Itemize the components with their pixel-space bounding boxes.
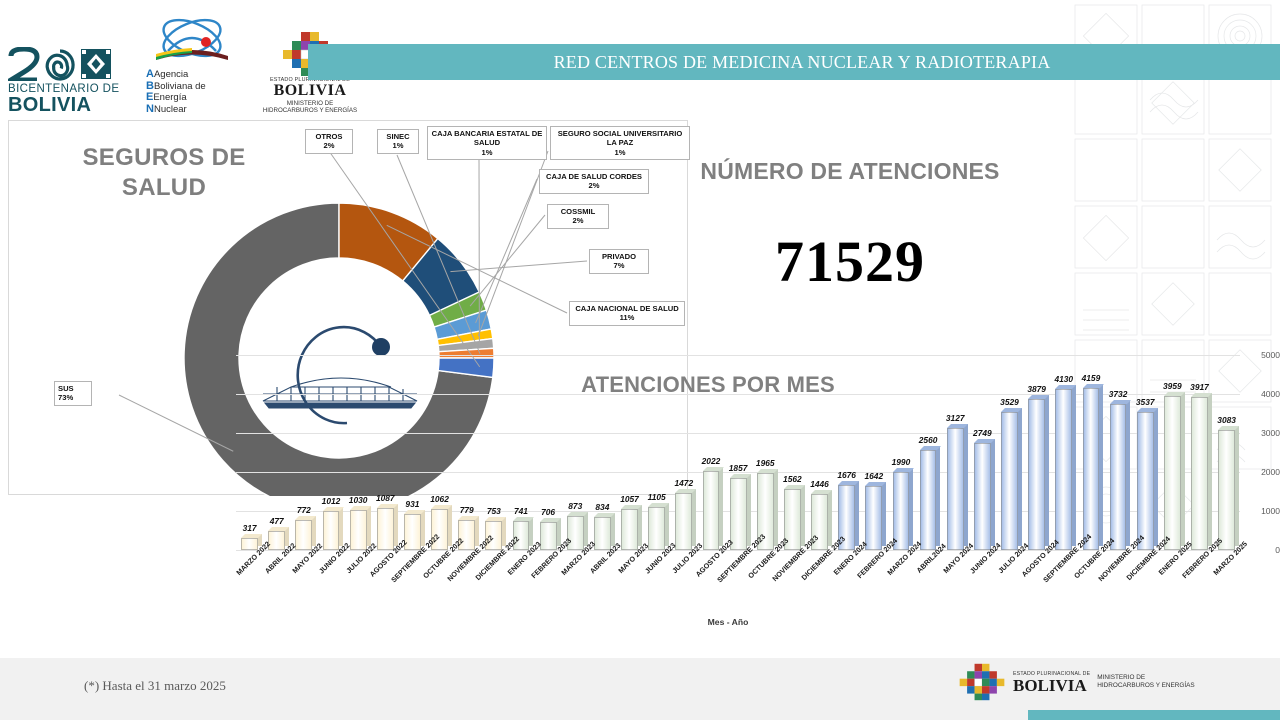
y-axis-tick: 2000 xyxy=(1246,467,1280,477)
bar-value-label: 1030 xyxy=(349,495,368,505)
bar-face xyxy=(621,509,638,550)
x-axis-label-cell: MARZO 2025 xyxy=(1213,553,1240,623)
bar-value-label: 2022 xyxy=(702,456,721,466)
bar-value-label: 772 xyxy=(297,505,311,515)
x-axis-label-cell: NOVIEMBRE 2022 xyxy=(453,553,480,623)
header-logos: BICENTENARIO DE BOLIVIA AAgencia BBolivi… xyxy=(8,18,358,115)
bar-column: 3537 xyxy=(1132,355,1159,550)
bar-column: 753 xyxy=(480,355,507,550)
bar-value-label: 1446 xyxy=(810,479,829,489)
footer-accent-bar xyxy=(1028,710,1280,720)
bar-column: 3127 xyxy=(942,355,969,550)
atenciones-por-mes-chart: ATENCIONES POR MES 010002000300040005000… xyxy=(236,345,1260,645)
aben-i4: N xyxy=(146,103,154,115)
bar-value-label: 3879 xyxy=(1027,384,1046,394)
bar: 1642 xyxy=(865,486,882,550)
bar-value-label: 3529 xyxy=(1000,397,1019,407)
bar: 772 xyxy=(295,520,312,550)
x-axis-label-cell: JULIO 2022 xyxy=(345,553,372,623)
bar-top xyxy=(1083,384,1104,388)
x-axis-label-cell: AGOSTO 2022 xyxy=(372,553,399,623)
bar-face xyxy=(730,478,747,550)
bar-face xyxy=(1191,397,1208,550)
bar-top xyxy=(404,510,425,514)
bar-face xyxy=(865,486,882,550)
x-axis-label-cell: MARZO 2023 xyxy=(562,553,589,623)
bar-face xyxy=(1028,399,1045,550)
bar-face xyxy=(703,471,720,550)
digit-2-icon xyxy=(8,47,40,81)
bar-value-label: 2749 xyxy=(973,428,992,438)
bar-column: 1062 xyxy=(426,355,453,550)
bar-top xyxy=(323,507,344,511)
x-axis-label-cell: JULIO 2024 xyxy=(996,553,1023,623)
x-axis-label-cell: NOVIEMBRE 2023 xyxy=(779,553,806,623)
aben-i2: B xyxy=(146,80,154,92)
ministerio-dept1: MINISTERIO DE xyxy=(262,100,358,108)
x-axis-label-cell: ENERO 2024 xyxy=(833,553,860,623)
andean-diamond-icon xyxy=(80,47,112,81)
bar-face xyxy=(377,508,394,550)
bar-side xyxy=(828,490,832,546)
bar-side xyxy=(936,446,940,546)
aben-l1: Agencia xyxy=(154,69,188,80)
bar-value-label: 477 xyxy=(270,516,284,526)
bar-column: 3917 xyxy=(1186,355,1213,550)
bar: 1472 xyxy=(675,493,692,550)
bar: 1857 xyxy=(730,478,747,550)
bar-value-label: 2560 xyxy=(919,435,938,445)
bar-value-label: 1087 xyxy=(376,493,395,503)
x-axis-label-cell: ABRIL2024 xyxy=(915,553,942,623)
x-axis-label-cell: DICIEMBRE 2024 xyxy=(1132,553,1159,623)
bar-side xyxy=(774,469,778,546)
callout-sus: SUS 73% xyxy=(54,381,92,406)
bar: 3959 xyxy=(1164,396,1181,550)
bar: 4130 xyxy=(1055,389,1072,550)
x-axis-label-cell: OCTUBRE 2023 xyxy=(752,553,779,623)
bar-top xyxy=(350,506,371,510)
y-axis-tick: 1000 xyxy=(1246,506,1280,516)
page-title-banner: RED CENTROS DE MEDICINA NUCLEAR Y RADIOT… xyxy=(308,44,1280,80)
bicentenario-mark xyxy=(8,47,126,81)
gridline xyxy=(236,550,1240,551)
bar-column: 741 xyxy=(507,355,534,550)
leader-line xyxy=(476,179,537,323)
bar-face xyxy=(1218,430,1235,550)
bar-side xyxy=(665,503,669,546)
footer-country: BOLIVIA xyxy=(1013,677,1090,694)
bar: 3732 xyxy=(1110,404,1127,550)
bar-face xyxy=(1164,396,1181,550)
bar-column: 4130 xyxy=(1050,355,1077,550)
x-axis-label-cell: NOVIEMBRE 2024 xyxy=(1105,553,1132,623)
bar-side xyxy=(475,516,479,546)
bar-value-label: 1857 xyxy=(729,463,748,473)
bar-side xyxy=(882,482,886,546)
logo-bicentenario: BICENTENARIO DE BOLIVIA xyxy=(8,47,126,115)
footer-logo: ESTADO PLURINACIONAL DE BOLIVIA MINISTER… xyxy=(958,662,1195,702)
bar-side xyxy=(1208,393,1212,546)
bar-column: 779 xyxy=(453,355,480,550)
bar-value-label: 834 xyxy=(595,502,609,512)
bar-column: 2560 xyxy=(915,355,942,550)
bar-value-label: 3917 xyxy=(1190,382,1209,392)
x-axis-title: Mes - Año xyxy=(708,617,749,627)
bar-side xyxy=(1154,408,1158,546)
bar-side xyxy=(719,467,723,546)
ministerio-dept2: HIDROCARBUROS Y ENERGÍAS xyxy=(262,107,358,115)
bar-side xyxy=(638,505,642,546)
ministerio-country: BOLIVIA xyxy=(262,83,358,99)
bar-column: 317 xyxy=(236,355,263,550)
bar-value-label: 3537 xyxy=(1136,397,1155,407)
bar-column: 3732 xyxy=(1105,355,1132,550)
bar-value-label: 1105 xyxy=(648,492,666,502)
bar-face xyxy=(295,520,312,550)
x-axis-label-cell: FEBRERO 2023 xyxy=(535,553,562,623)
bar: 3529 xyxy=(1001,412,1018,550)
bar-face xyxy=(1110,404,1127,550)
bar-face xyxy=(1055,389,1072,550)
bar: 3917 xyxy=(1191,397,1208,550)
bar-face xyxy=(268,531,285,550)
callout-caja-nacional-de-salud: CAJA NACIONAL DE SALUD 11% xyxy=(569,301,685,326)
bar-value-label: 4159 xyxy=(1082,373,1101,383)
x-axis-label-cell: ABRIL 2022 xyxy=(263,553,290,623)
bar-value-label: 3127 xyxy=(946,413,965,423)
x-axis-label-cell: MAYO 2022 xyxy=(290,553,317,623)
bar: 1030 xyxy=(350,510,367,550)
bar-face xyxy=(648,507,665,550)
x-axis-label-cell: MAYO 2023 xyxy=(616,553,643,623)
bar-column: 3879 xyxy=(1023,355,1050,550)
bar-side xyxy=(991,439,995,546)
x-axis-label-cell: SEPTIEMBRE 2022 xyxy=(399,553,426,623)
y-axis-tick: 3000 xyxy=(1246,428,1280,438)
callout-caja-bancaria-estatal-de-salud: CAJA BANCARIA ESTATAL DE SALUD 1% xyxy=(427,126,547,160)
bar-face xyxy=(974,443,991,550)
bar-column: 3959 xyxy=(1159,355,1186,550)
bar-side xyxy=(855,481,859,546)
x-axis-label-cell: MARZO 2024 xyxy=(887,553,914,623)
callout-cossmil: COSSMIL 2% xyxy=(547,204,609,229)
bar-side xyxy=(747,474,751,546)
x-axis-label-cell: SEPTIEMBRE 2024 xyxy=(1050,553,1077,623)
x-axis-label-cell: MAYO 2024 xyxy=(942,553,969,623)
bar-face xyxy=(323,511,340,550)
y-axis-tick: 0 xyxy=(1246,545,1280,555)
bar-face xyxy=(947,428,964,550)
y-axis-tick: 5000 xyxy=(1246,350,1280,360)
bar: 1057 xyxy=(621,509,638,550)
bar-top xyxy=(513,517,534,521)
x-axis-label-cell: OCTUBRE 2024 xyxy=(1077,553,1104,623)
bar-value-label: 873 xyxy=(568,501,582,511)
bar: 3127 xyxy=(947,428,964,550)
bar: 4159 xyxy=(1083,388,1100,550)
logo-aben: AAgencia BBoliviana de EEnergía NNuclear xyxy=(146,18,242,115)
bar: 477 xyxy=(268,531,285,550)
bar-value-label: 3732 xyxy=(1109,389,1128,399)
bar-face xyxy=(1001,412,1018,550)
bar-value-label: 1012 xyxy=(322,496,341,506)
bar-side xyxy=(367,506,371,546)
bar: 3537 xyxy=(1137,412,1154,550)
bar-side xyxy=(964,424,968,546)
bar-side xyxy=(1235,426,1239,546)
bar-value-label: 317 xyxy=(243,523,257,533)
x-axis-label-cell: MARZO 2022 xyxy=(236,553,263,623)
bar-face xyxy=(350,510,367,550)
bar-value-label: 1472 xyxy=(674,478,693,488)
x-axis-label-cell: DICIEMBRE 2023 xyxy=(806,553,833,623)
bar-value-label: 753 xyxy=(487,506,501,516)
bar: 3879 xyxy=(1028,399,1045,550)
bar-value-label: 1062 xyxy=(430,494,449,504)
x-axis-label-cell: AGOSTO 2024 xyxy=(1023,553,1050,623)
bar-column: 1990 xyxy=(887,355,914,550)
x-axis-label-cell: DICIEMBRE 2022 xyxy=(480,553,507,623)
bar-column: 1676 xyxy=(833,355,860,550)
bar-chart-title: ATENCIONES POR MES xyxy=(581,372,835,398)
bar-value-label: 741 xyxy=(514,506,528,516)
bar-face xyxy=(1137,412,1154,550)
x-axis-label-cell: ENERO 2023 xyxy=(507,553,534,623)
footer-bolivia-text: ESTADO PLURINACIONAL DE BOLIVIA xyxy=(1013,671,1090,694)
footer: (*) Hasta el 31 marzo 2025 ESTADO PLURIN… xyxy=(0,658,1280,720)
bar: 2022 xyxy=(703,471,720,550)
bar-face xyxy=(675,493,692,550)
x-axis-label-cell: FEBRERO 2024 xyxy=(860,553,887,623)
bar-value-label: 3959 xyxy=(1163,381,1182,391)
x-axis-label-cell: JULIO 2023 xyxy=(670,553,697,623)
callout-sinec: SINEC 1% xyxy=(377,129,419,154)
page-title: RED CENTROS DE MEDICINA NUCLEAR Y RADIOT… xyxy=(554,52,1051,73)
x-axis-label-cell: JUNIO 2023 xyxy=(643,553,670,623)
bar-side xyxy=(1045,395,1049,546)
bar-side xyxy=(448,505,452,546)
aben-l2: Boliviana de xyxy=(154,81,206,92)
bar-column: 1642 xyxy=(860,355,887,550)
bar: 1105 xyxy=(648,507,665,550)
bar-column: 3083 xyxy=(1213,355,1240,550)
bar-value-label: 1562 xyxy=(783,474,802,484)
bar: 3083 xyxy=(1218,430,1235,550)
bar-side xyxy=(339,507,343,546)
bar-column: 1030 xyxy=(345,355,372,550)
bar-value-label: 1057 xyxy=(620,494,639,504)
x-axis-label-cell: AGOSTO 2023 xyxy=(697,553,724,623)
bar: 2560 xyxy=(920,450,937,550)
x-axis-label-cell: JUNIO 2022 xyxy=(317,553,344,623)
footer-dept: MINISTERIO DE HIDROCARBUROS Y ENERGÍAS xyxy=(1097,674,1194,690)
bar-value-label: 3083 xyxy=(1217,415,1236,425)
footer-dept1: MINISTERIO DE xyxy=(1097,674,1194,682)
bar-face xyxy=(1083,388,1100,550)
bar-column: 1087 xyxy=(372,355,399,550)
bar-side xyxy=(1181,392,1185,546)
bar-column: 4159 xyxy=(1077,355,1104,550)
bar: 1087 xyxy=(377,508,394,550)
callout-otros: OTROS 2% xyxy=(305,129,353,154)
bicentenario-line2: BOLIVIA xyxy=(8,95,126,115)
bar-value-label: 4130 xyxy=(1054,374,1073,384)
bar-value-label: 706 xyxy=(541,507,555,517)
bar-side xyxy=(909,468,913,546)
bar-column: 477 xyxy=(263,355,290,550)
bar-side xyxy=(421,510,425,546)
x-axis-label-cell: JUNIO 2024 xyxy=(969,553,996,623)
footer-note: (*) Hasta el 31 marzo 2025 xyxy=(84,678,226,694)
bar-face xyxy=(920,450,937,550)
bar-value-label: 931 xyxy=(405,499,419,509)
atenciones-total-value: 71529 xyxy=(775,228,925,295)
leader-line xyxy=(470,215,545,306)
x-axis-label-cell: ABRIL 2023 xyxy=(589,553,616,623)
x-axis-label-cell: FEBRERO 2025 xyxy=(1186,553,1213,623)
spiral-icon xyxy=(44,47,76,81)
bar-top xyxy=(730,474,751,478)
bar-value-label: 1990 xyxy=(892,457,911,467)
footer-dept2: HIDROCARBUROS Y ENERGÍAS xyxy=(1097,682,1194,690)
bar-column: 3529 xyxy=(996,355,1023,550)
bar: 1012 xyxy=(323,511,340,550)
y-axis-tick: 4000 xyxy=(1246,389,1280,399)
bar-side xyxy=(394,504,398,546)
aben-l4: Nuclear xyxy=(154,104,187,115)
bar-side xyxy=(692,489,696,546)
bar: 2749 xyxy=(974,443,991,550)
bar-top xyxy=(377,504,398,508)
bar-side xyxy=(1072,385,1076,546)
callout-seguro-social-universitario-la-paz: SEGURO SOCIAL UNIVERSITARIO LA PAZ 1% xyxy=(550,126,690,160)
bar-value-label: 779 xyxy=(460,505,474,515)
bar-value-label: 1642 xyxy=(864,471,883,481)
x-axis-label-cell: OCTUBRE 2022 xyxy=(426,553,453,623)
bar-column: 931 xyxy=(399,355,426,550)
bar-side xyxy=(584,512,588,546)
aben-i1: A xyxy=(146,68,154,80)
bar-side xyxy=(1099,384,1103,546)
leader-line xyxy=(478,151,548,336)
bar-top xyxy=(703,467,724,471)
bolivia-emblem-icon xyxy=(958,662,1006,702)
bar-side xyxy=(1126,400,1130,546)
bar-column: 772 xyxy=(290,355,317,550)
bar-column: 2749 xyxy=(969,355,996,550)
bar-column: 706 xyxy=(535,355,562,550)
x-axis-labels: MARZO 2022ABRIL 2022MAYO 2022JUNIO 2022J… xyxy=(236,553,1240,623)
bar-top xyxy=(811,490,832,494)
bar-top xyxy=(1164,392,1185,396)
callout-privado: PRIVADO 7% xyxy=(589,249,649,274)
bar-side xyxy=(1018,408,1022,546)
x-axis-label-cell: SEPTIEMBRE 2023 xyxy=(725,553,752,623)
aben-atom-icon xyxy=(146,18,238,64)
aben-l3: Energía xyxy=(153,92,186,103)
callout-caja-de-salud-cordes: CAJA DE SALUD CORDES 2% xyxy=(539,169,649,194)
atenciones-total-title: NÚMERO DE ATENCIONES xyxy=(700,158,999,185)
bar-side xyxy=(801,485,805,546)
x-axis-label-cell: ENERO 2025 xyxy=(1159,553,1186,623)
bar-value-label: 1676 xyxy=(837,470,856,480)
bar-column: 1012 xyxy=(317,355,344,550)
bar-value-label: 1965 xyxy=(756,458,775,468)
